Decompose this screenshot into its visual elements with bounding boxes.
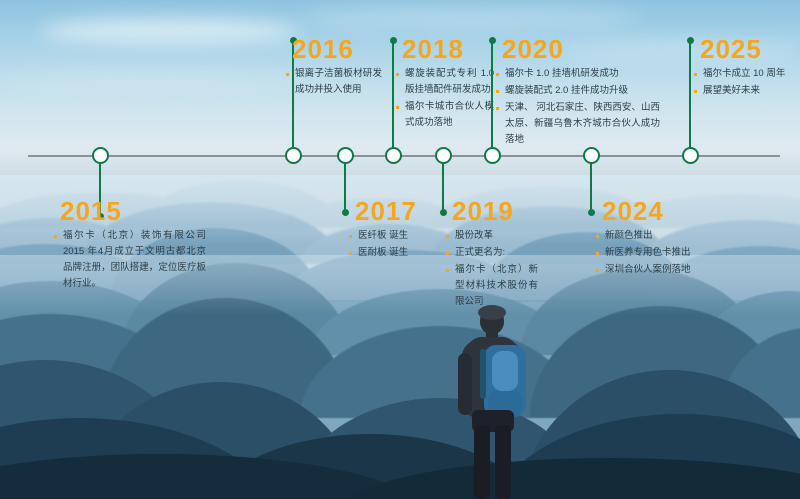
event-bullet: 螺旋装配式专利 1.0 版挂墙配件研发成功: [396, 66, 494, 98]
timeline-node-2015[interactable]: [92, 147, 109, 164]
event-bullet: 医纤板 诞生: [349, 228, 441, 244]
event-bullet: 新医养专用色卡推出: [596, 245, 700, 261]
timeline-stem-2025: [689, 40, 691, 155]
event-bullet: 福尔卡城市合伙人模式成功落地: [396, 99, 494, 131]
year-label-2025: 2025: [700, 36, 762, 62]
year-label-2024: 2024: [602, 198, 664, 224]
hiker-arm-left: [458, 353, 472, 415]
timeline-axis: [28, 155, 780, 157]
event-bullet: 新颜色推出: [596, 228, 700, 244]
timeline-stem-dot-2019: [440, 209, 447, 216]
event-details-2020: 福尔卡 1.0 挂墙机研发成功螺旋装配式 2.0 挂件成功升级天津、 河北石家庄…: [496, 66, 660, 149]
hiker-backpack-strap: [480, 349, 486, 399]
event-bullet: 展望美好未来: [694, 83, 798, 99]
year-label-2017: 2017: [355, 198, 417, 224]
timeline-stem-dot-2017: [342, 209, 349, 216]
year-label-2016: 2016: [292, 36, 354, 62]
timeline-stem-dot-2020: [489, 37, 496, 44]
timeline-stem-dot-2025: [687, 37, 694, 44]
year-label-2015: 2015: [60, 198, 122, 224]
event-bullet: 股份改革: [446, 228, 538, 244]
event-details-2015: 福尔卡（北京）装饰有限公司 2015 年4月成立于文明古都北京品牌注册，团队搭建…: [54, 228, 206, 293]
year-label-2019: 2019: [452, 198, 514, 224]
timeline-stem-2018: [392, 40, 394, 155]
timeline-node-2019[interactable]: [435, 147, 452, 164]
event-bullet: 医耐板 诞生: [349, 245, 441, 261]
event-bullet: 天津、 河北石家庄、陕西西安、山西太原、新疆乌鲁木齐城市合伙人成功落地: [496, 100, 660, 148]
timeline-node-2020[interactable]: [484, 147, 501, 164]
hiker-backpack-highlight: [492, 351, 518, 391]
event-bullet: 正式更名为:: [446, 245, 538, 261]
event-bullet: 螺旋装配式 2.0 挂件成功升级: [496, 83, 660, 99]
event-bullet: 福尔卡成立 10 周年: [694, 66, 798, 82]
event-bullet: 银离子洁菌板材研发成功并投入使用: [286, 66, 382, 98]
event-bullet: 福尔卡（北京）装饰有限公司 2015 年4月成立于文明古都北京品牌注册，团队搭建…: [54, 228, 206, 292]
event-bullet: 福尔卡 1.0 挂墙机研发成功: [496, 66, 660, 82]
year-label-2018: 2018: [402, 36, 464, 62]
hiker-leg-left: [474, 425, 490, 499]
timeline-node-2018[interactable]: [385, 147, 402, 164]
year-label-2020: 2020: [502, 36, 564, 62]
timeline-node-2016[interactable]: [285, 147, 302, 164]
event-bullet: 深圳合伙人案例落地: [596, 262, 700, 278]
event-details-2019: 股份改革正式更名为:福尔卡（北京）新型材料技术股份有限公司: [446, 228, 538, 311]
event-details-2017: 医纤板 诞生医耐板 诞生: [349, 228, 441, 262]
timeline-node-2024[interactable]: [583, 147, 600, 164]
event-details-2018: 螺旋装配式专利 1.0 版挂墙配件研发成功福尔卡城市合伙人模式成功落地: [396, 66, 494, 132]
event-details-2025: 福尔卡成立 10 周年展望美好未来: [694, 66, 798, 100]
timeline-stem-2020: [491, 40, 493, 155]
hiker-silhouette: [440, 305, 560, 499]
timeline-stem-dot-2024: [588, 209, 595, 216]
timeline-node-2017[interactable]: [337, 147, 354, 164]
timeline-node-2025[interactable]: [682, 147, 699, 164]
event-bullet: 福尔卡（北京）新型材料技术股份有限公司: [446, 262, 538, 310]
hiker-leg-right: [495, 425, 511, 499]
event-details-2024: 新颜色推出新医养专用色卡推出深圳合伙人案例落地: [596, 228, 700, 279]
timeline-stem-dot-2018: [390, 37, 397, 44]
infographic-canvas: 2015福尔卡（北京）装饰有限公司 2015 年4月成立于文明古都北京品牌注册，…: [0, 0, 800, 499]
event-details-2016: 银离子洁菌板材研发成功并投入使用: [286, 66, 382, 99]
